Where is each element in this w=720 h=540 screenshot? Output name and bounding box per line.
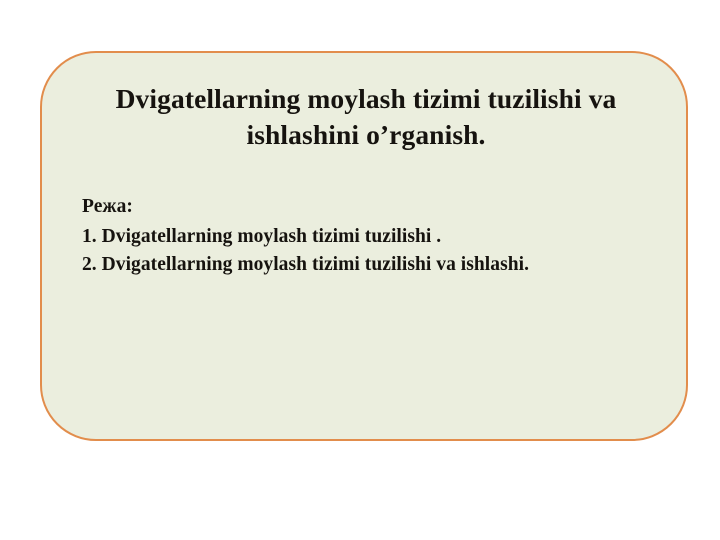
- presentation-slide: Dvigatellarning moylash tizimi tuzilishi…: [0, 0, 720, 540]
- body-list-item-2: 2. Dvigatellarning moylash tizimi tuzili…: [82, 251, 682, 279]
- rounded-content-panel: Dvigatellarning moylash tizimi tuzilishi…: [40, 51, 688, 441]
- slide-title: Dvigatellarning moylash tizimi tuzilishi…: [72, 81, 660, 153]
- body-list-item-1: 1. Dvigatellarning moylash tizimi tuzili…: [82, 223, 682, 251]
- title-line-1: Dvigatellarning moylash tizimi tuzilishi…: [72, 81, 660, 117]
- slide-body: Режа: 1. Dvigatellarning moylash tizimi …: [82, 193, 682, 279]
- title-line-2: ishlashini o’rganish.: [72, 117, 660, 153]
- body-heading-rejha: Режа:: [82, 193, 682, 221]
